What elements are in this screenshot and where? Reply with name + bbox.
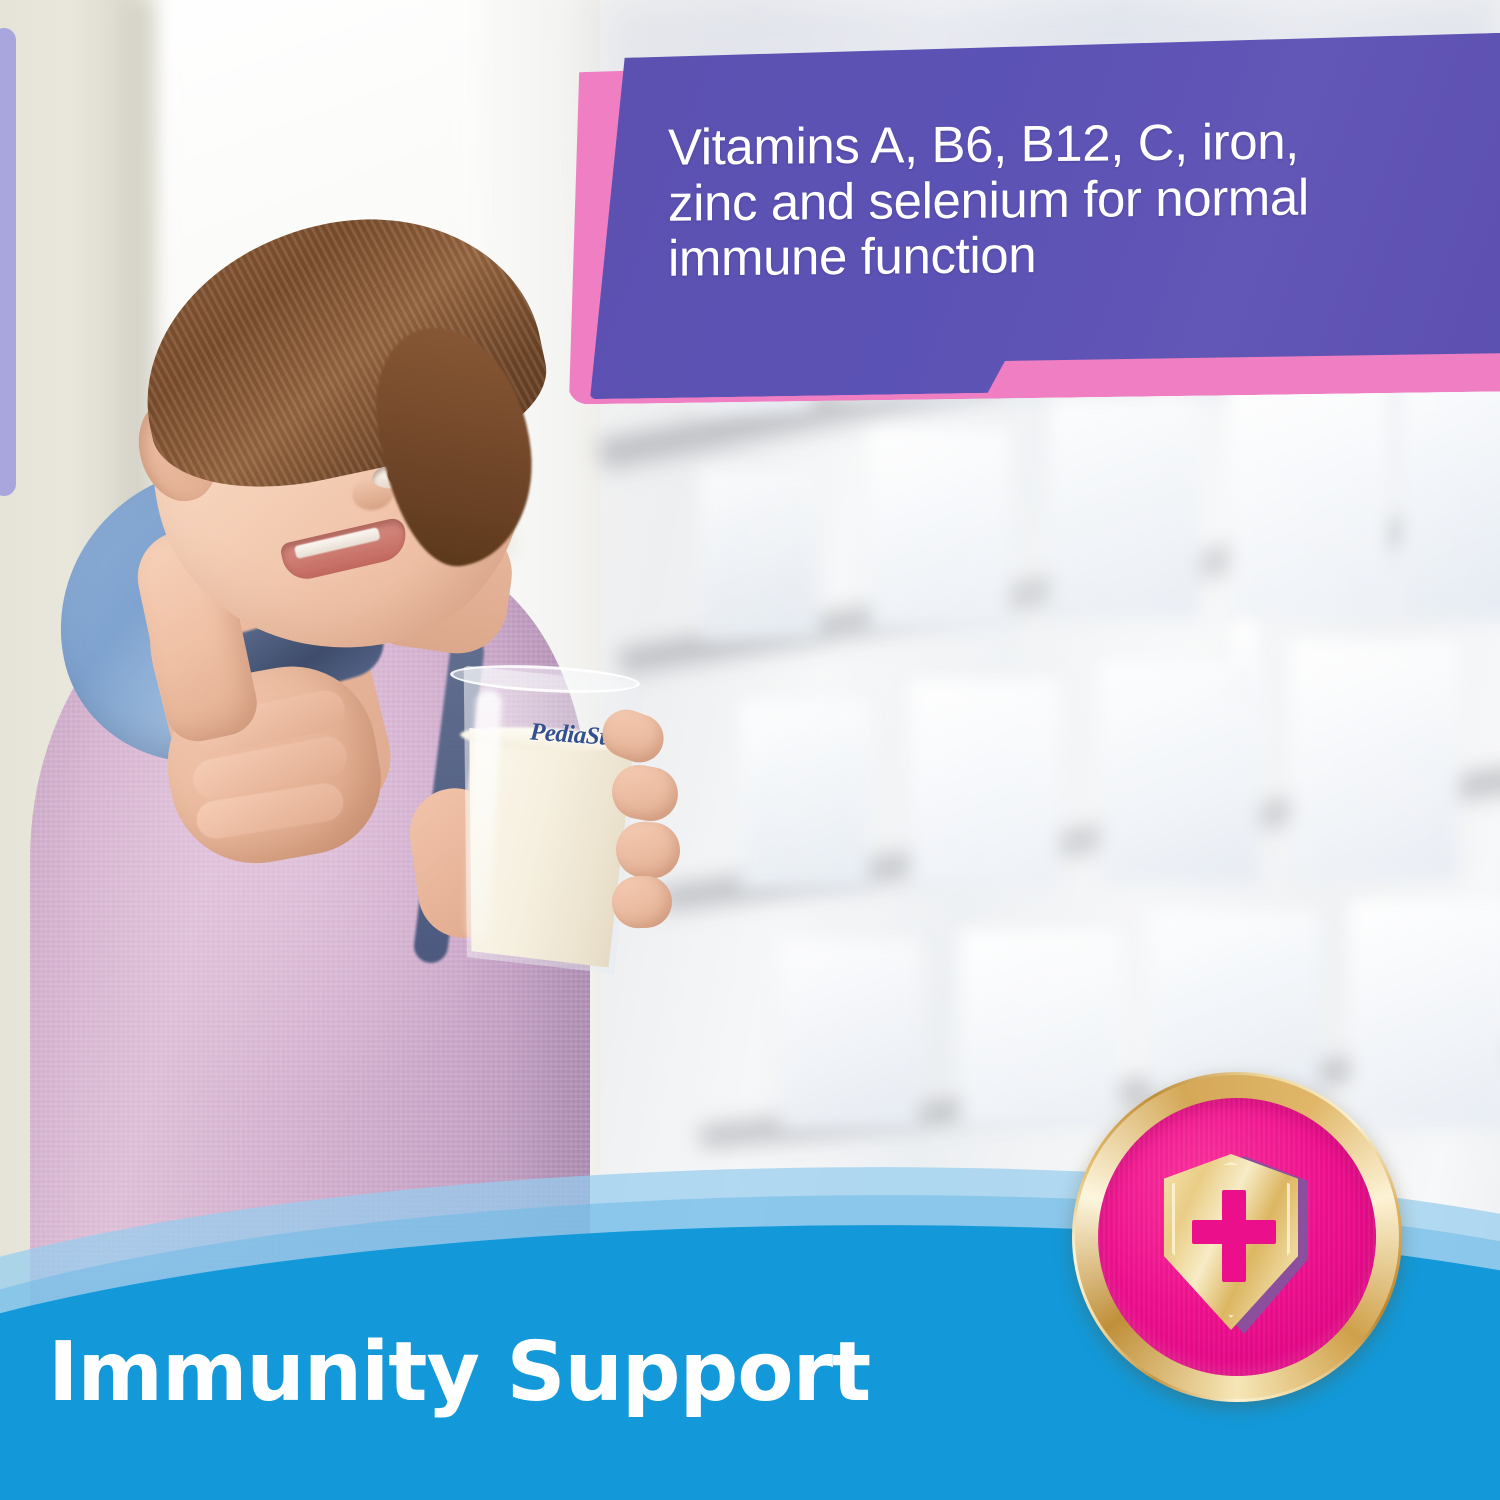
footer-headline: Immunity Support [48,1332,870,1414]
pediasure-glass-group: PediaSure [452,670,682,1000]
banner-line-3: immune function [668,223,1438,286]
ad-canvas: PediaSure Vitamins A, B6, B12, C, iron, … [0,0,1500,1500]
banner-line-2: zinc and selenium for normal [668,168,1438,231]
plus-icon-horizontal [1192,1220,1276,1244]
finger [611,875,673,929]
banner-line-1: Vitamins A, B6, B12, C, iron, [668,112,1438,175]
immunity-shield-badge [1072,1072,1402,1402]
benefit-callout-banner: Vitamins A, B6, B12, C, iron, zinc and s… [0,0,1500,460]
banner-text-block: Vitamins A, B6, B12, C, iron, zinc and s… [668,112,1438,286]
